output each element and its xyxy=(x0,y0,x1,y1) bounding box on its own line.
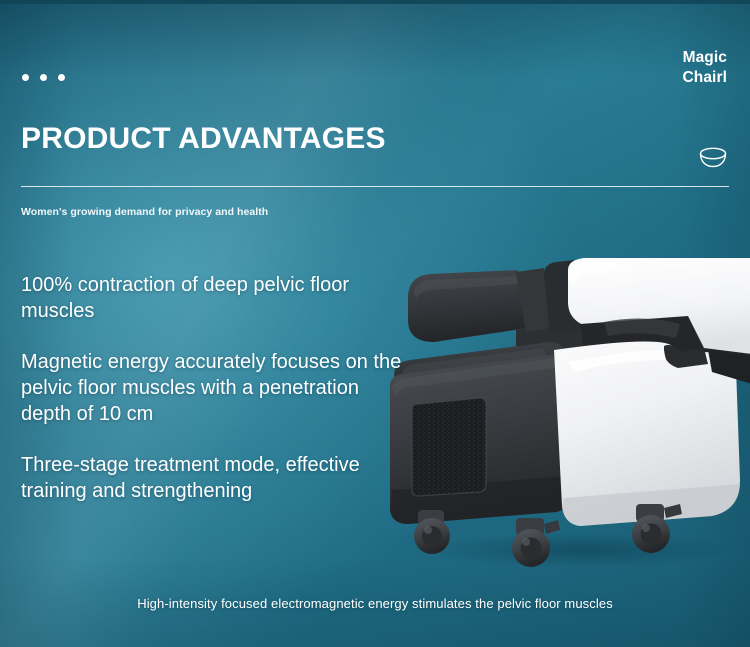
advantage-item-1: 100% contraction of deep pelvic floor mu… xyxy=(21,272,413,324)
decorative-dots xyxy=(22,74,65,81)
advantage-item-3: Three-stage treatment mode, effective tr… xyxy=(21,452,413,504)
dot-1-icon xyxy=(22,74,29,81)
dot-3-icon xyxy=(58,74,65,81)
advantage-item-2: Magnetic energy accurately focuses on th… xyxy=(21,349,413,427)
title-divider xyxy=(21,186,729,187)
ground-shadow xyxy=(418,532,738,568)
slide-root: Magic Chairl PRODUCT ADVANTAGES Women's … xyxy=(0,0,750,647)
brand-logo-text: Magic Chairl xyxy=(682,48,727,88)
advantages-list: 100% contraction of deep pelvic floor mu… xyxy=(21,272,413,504)
subtitle: Women's growing demand for privacy and h… xyxy=(21,206,268,218)
product-image-pelvic-chair xyxy=(368,258,750,570)
bowl-outline-icon xyxy=(696,145,730,171)
page-title: PRODUCT ADVANTAGES xyxy=(21,124,386,154)
top-border-strip xyxy=(0,0,750,4)
footer-caption: High-intensity focused electromagnetic e… xyxy=(0,596,750,611)
vent-grille xyxy=(408,394,492,500)
dot-2-icon xyxy=(40,74,47,81)
